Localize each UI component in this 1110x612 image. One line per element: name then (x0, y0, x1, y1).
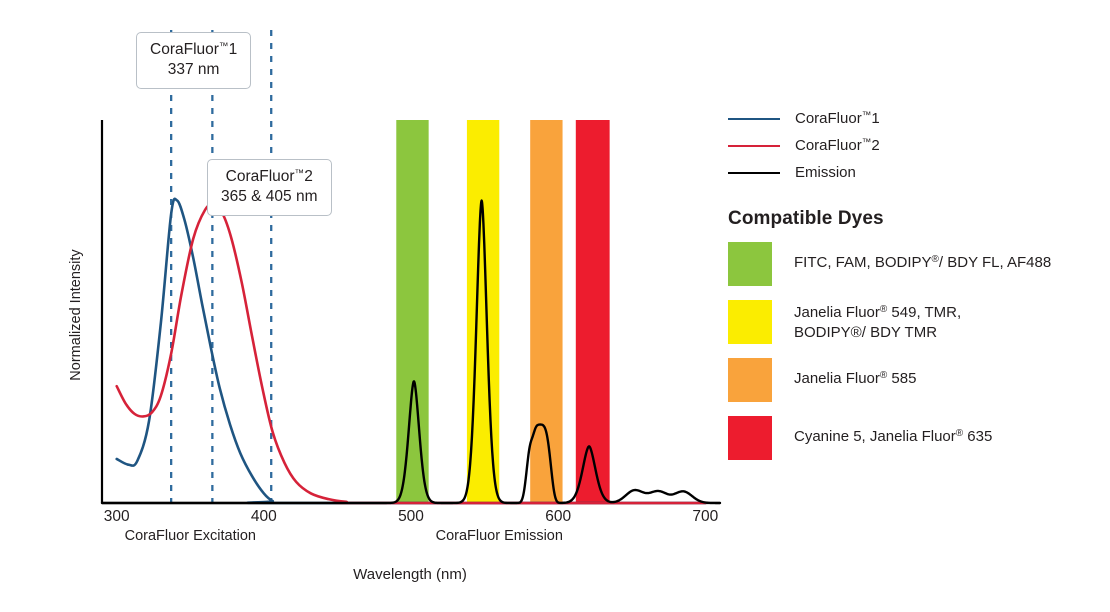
line-legend: CoraFluor™1CoraFluor™2Emission (728, 105, 1098, 186)
red-band (576, 120, 610, 503)
legend-row-3: Emission (728, 159, 1098, 186)
legend-label: CoraFluor™2 (795, 137, 880, 154)
dye-color-swatch (728, 300, 772, 344)
dye-label: Janelia Fluor® 585 (794, 358, 916, 389)
dye-row-2: Janelia Fluor® 549, TMR,BODIPY®/ BDY TMR (728, 300, 1098, 344)
corafluor-2-callout-line2: 365 & 405 nm (221, 187, 318, 207)
dye-label-line1: Janelia Fluor® 585 (794, 369, 916, 389)
legend-label: CoraFluor™1 (795, 110, 880, 127)
y-axis-title: Normalized Intensity (68, 215, 84, 415)
compatible-dyes-list: FITC, FAM, BODIPY®/ BDY FL, AF488Janelia… (728, 242, 1098, 460)
x-region-label-emission: CoraFluor Emission (369, 528, 629, 544)
x-tick-400: 400 (234, 508, 294, 526)
orange-band (530, 120, 562, 503)
x-tick-500: 500 (381, 508, 441, 526)
legend-label: Emission (795, 164, 856, 181)
green-band (396, 120, 428, 503)
x-tick-600: 600 (528, 508, 588, 526)
legend-panel: CoraFluor™1CoraFluor™2Emission Compatibl… (728, 105, 1098, 474)
dye-color-swatch (728, 416, 772, 460)
spectra-figure: CoraFluor™1 337 nm CoraFluor™2 365 & 405… (0, 0, 1110, 612)
legend-line-swatch (728, 118, 780, 120)
dye-label-line1: FITC, FAM, BODIPY®/ BDY FL, AF488 (794, 253, 1051, 273)
x-tick-300: 300 (87, 508, 147, 526)
dye-color-swatch (728, 358, 772, 402)
dye-color-swatch (728, 242, 772, 286)
dye-label: FITC, FAM, BODIPY®/ BDY FL, AF488 (794, 242, 1051, 273)
legend-row-2: CoraFluor™2 (728, 132, 1098, 159)
dye-label-line2: BODIPY®/ BDY TMR (794, 323, 961, 343)
corafluor-1-callout-line1: CoraFluor™1 (150, 40, 237, 60)
compatible-dyes-title: Compatible Dyes (728, 208, 1098, 230)
dye-label: Janelia Fluor® 549, TMR,BODIPY®/ BDY TMR (794, 300, 961, 343)
legend-row-1: CoraFluor™1 (728, 105, 1098, 132)
legend-line-swatch (728, 145, 780, 147)
dye-label-line1: Cyanine 5, Janelia Fluor® 635 (794, 427, 992, 447)
dye-label: Cyanine 5, Janelia Fluor® 635 (794, 416, 992, 447)
dye-label-line1: Janelia Fluor® 549, TMR, (794, 303, 961, 323)
corafluor-1-callout: CoraFluor™1 337 nm (136, 32, 251, 89)
corafluor-2-callout: CoraFluor™2 365 & 405 nm (207, 159, 332, 216)
corafluor-1-callout-line2: 337 nm (150, 60, 237, 80)
x-axis-title: Wavelength (nm) (280, 566, 540, 583)
x-region-label-excitation: CoraFluor Excitation (60, 528, 320, 544)
x-tick-700: 700 (675, 508, 735, 526)
corafluor-2-callout-line1: CoraFluor™2 (221, 167, 318, 187)
dye-row-1: FITC, FAM, BODIPY®/ BDY FL, AF488 (728, 242, 1098, 286)
dye-row-3: Janelia Fluor® 585 (728, 358, 1098, 402)
dye-row-4: Cyanine 5, Janelia Fluor® 635 (728, 416, 1098, 460)
legend-line-swatch (728, 172, 780, 174)
